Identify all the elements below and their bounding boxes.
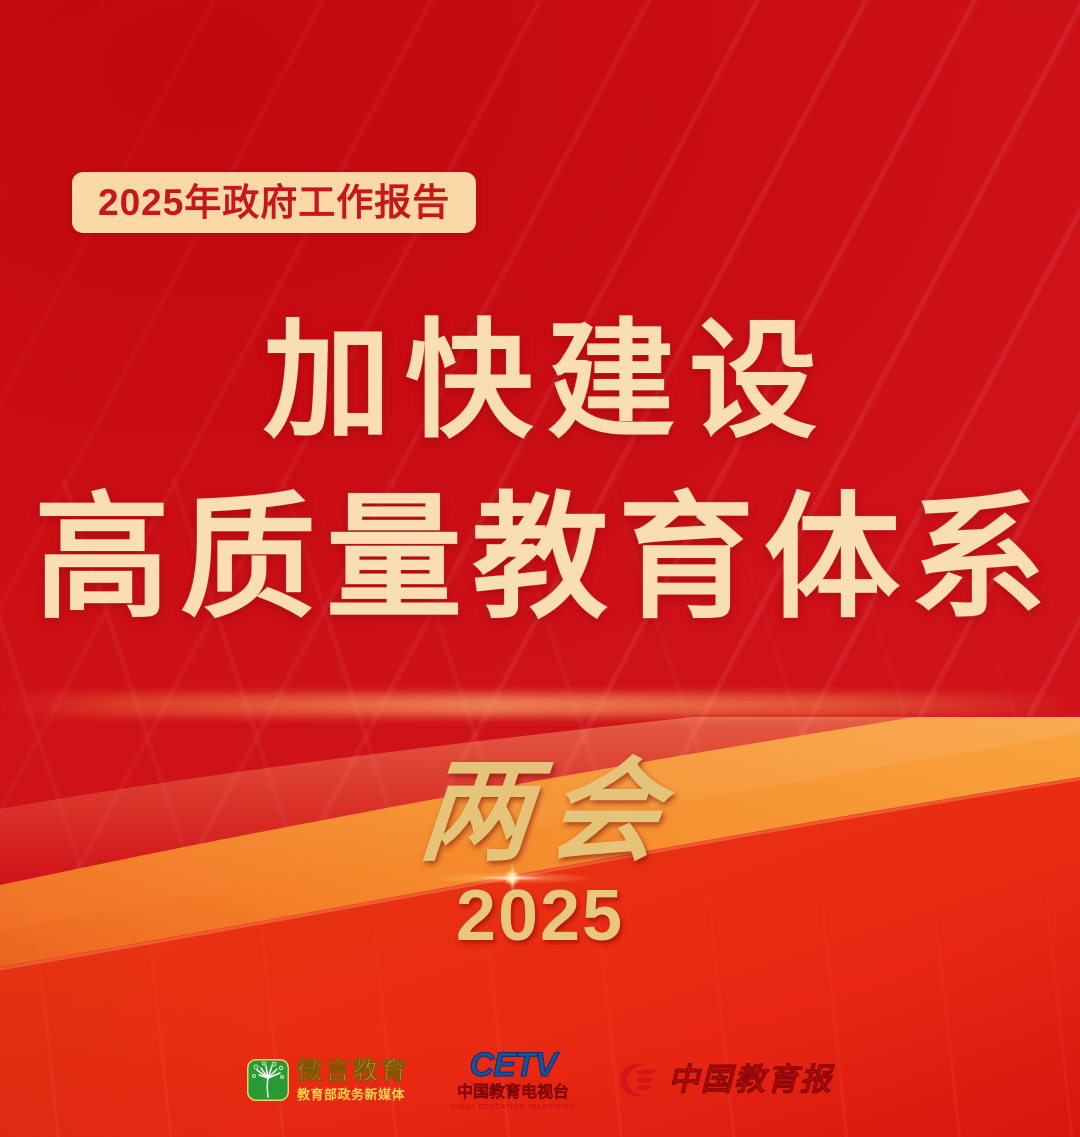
logo-weiyan-tagline: 教育部政务新媒体 [297, 1088, 409, 1101]
logo-cetv-tagline: CHINA EDUCATION TELEVISION [451, 1104, 575, 1111]
report-badge: 2025年政府工作报告 [72, 172, 476, 233]
report-badge-label: 2025年政府工作报告 [98, 184, 450, 221]
logo-cetv: CETV 中国教育电视台 CHINA EDUCATION TELEVISION [451, 1048, 575, 1111]
logo-cetv-acronym: CETV [470, 1048, 557, 1082]
logo-weiyan-text: 微言教育 教育部政务新媒体 [297, 1059, 409, 1101]
cetv-emblem-icon [617, 1060, 661, 1100]
lianghui-year: 2025 [0, 880, 1080, 952]
logo-weiyan-jiaoyu: 微言教育 教育部政务新媒体 [247, 1059, 409, 1101]
page-title-line-2: 高质量教育体系 [0, 492, 1080, 628]
publisher-logo-row: 微言教育 教育部政务新媒体 CETV 中国教育电视台 CHINA EDUCATI… [0, 1048, 1080, 1111]
lianghui-lockup: 两会 [0, 757, 1080, 869]
dandelion-icon [247, 1059, 289, 1101]
logo-weiyan-name: 微言教育 [297, 1059, 409, 1084]
page-title: 加快建设 高质量教育体系 [0, 318, 1080, 628]
page-title-line-1: 加快建设 [0, 318, 1080, 446]
logo-cetv-name: 中国教育电视台 [457, 1085, 569, 1101]
logo-zhongguo-jiaoyu-bao: 中国教育报 [617, 1060, 833, 1100]
logo-zjb-name: 中国教育报 [668, 1064, 833, 1095]
lianghui-label: 两会 [399, 757, 681, 869]
poster-canvas: 2025年政府工作报告 加快建设 高质量教育体系 两会 2025 [0, 0, 1080, 1137]
